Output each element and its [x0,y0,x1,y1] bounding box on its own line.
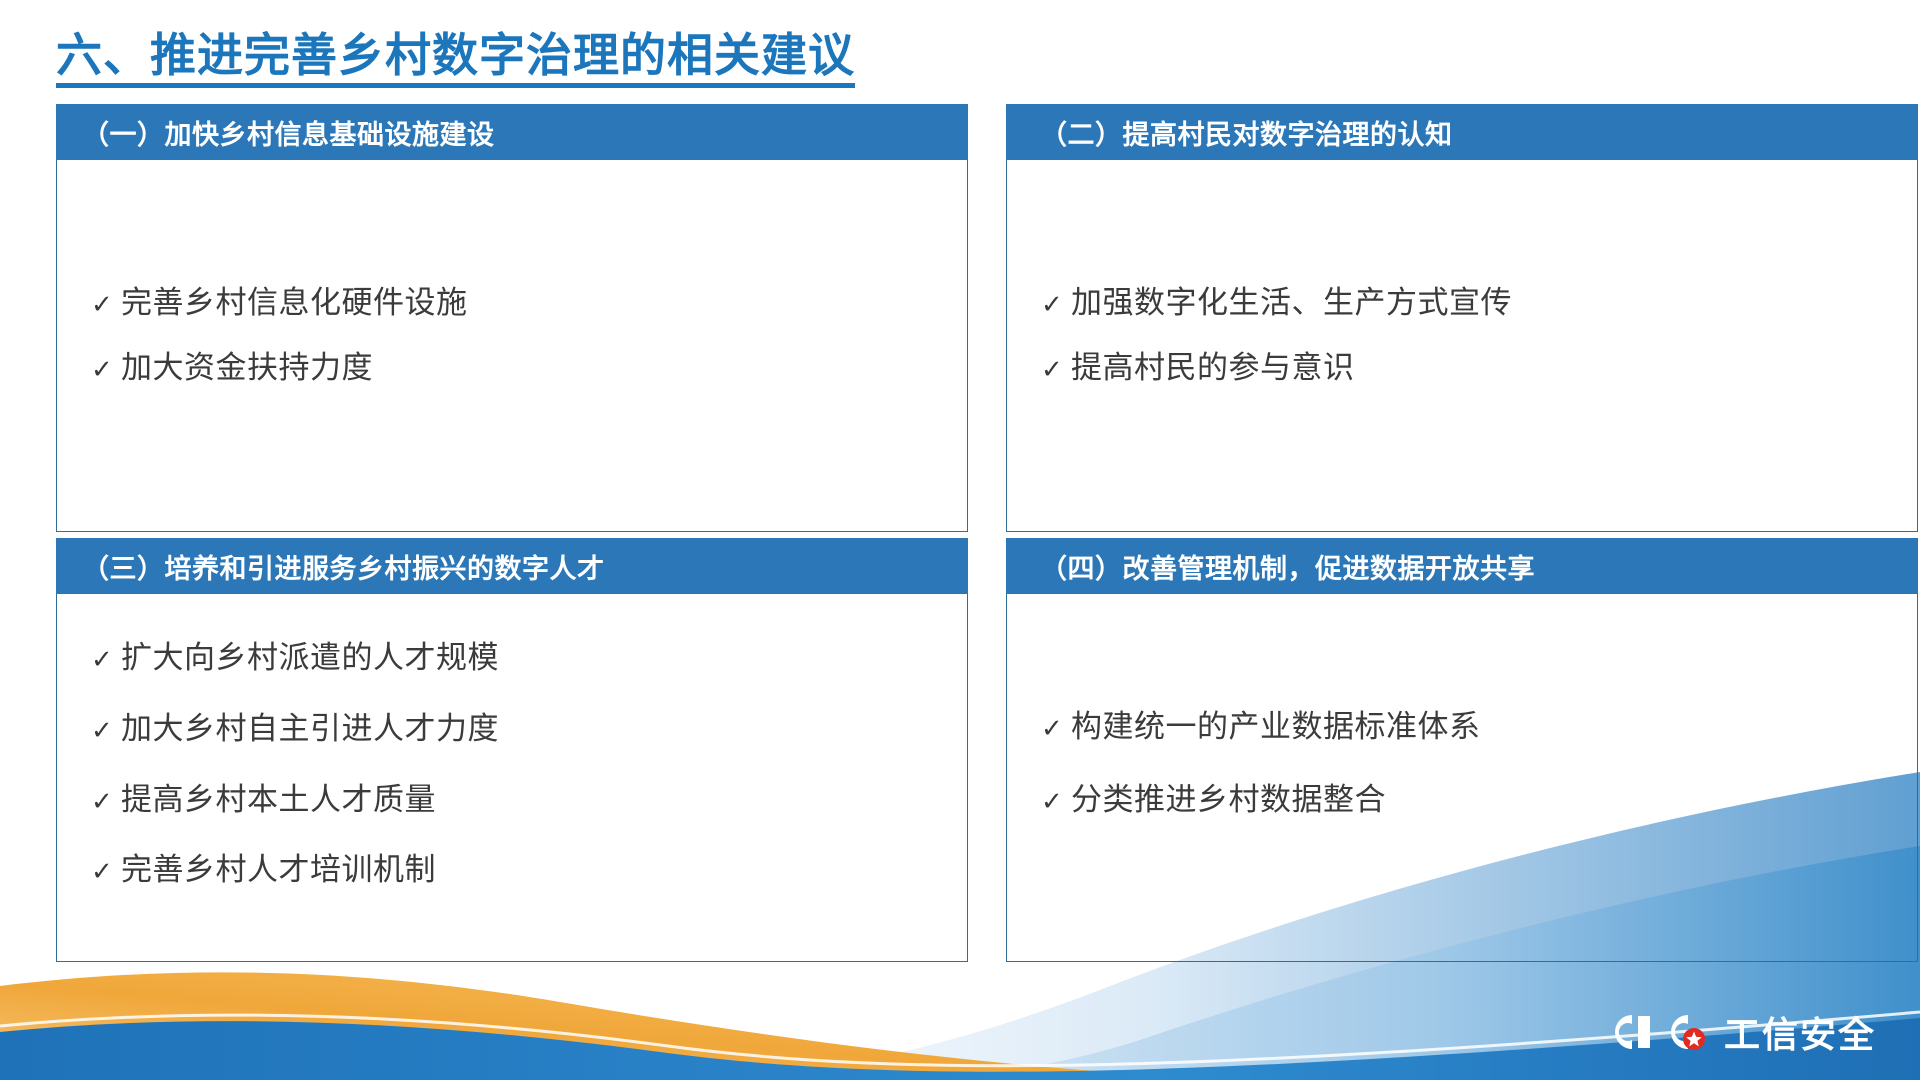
panel-two-bullet-list: ✓ 加强数字化生活、生产方式宣传 ✓ 提高村民的参与意识 [1025,284,1899,414]
panel-four-body: ✓ 构建统一的产业数据标准体系 ✓ 分类推进乡村数据整合 [1006,594,1918,962]
list-item-label: 提高村民的参与意识 [1071,349,1355,388]
panel-one-header-text: （一）加快乡村信息基础设施建设 [82,113,495,152]
list-item: ✓ 完善乡村人才培训机制 [75,851,949,890]
panel-four-header: （四）改善管理机制，促进数据开放共享 [1006,538,1918,594]
check-icon: ✓ [75,643,121,676]
check-icon: ✓ [1025,353,1071,386]
panel-three-body: ✓ 扩大向乡村派遣的人才规模 ✓ 加大乡村自主引进人才力度 ✓ 提高乡村本土人才… [56,594,968,962]
panel-three-bullet-list: ✓ 扩大向乡村派遣的人才规模 ✓ 加大乡村自主引进人才力度 ✓ 提高乡村本土人才… [75,639,949,922]
recommendations-grid: （一）加快乡村信息基础设施建设 ✓ 完善乡村信息化硬件设施 ✓ 加大资金扶持力度 [56,104,1918,994]
panel-two-body: ✓ 加强数字化生活、生产方式宣传 ✓ 提高村民的参与意识 [1006,160,1918,532]
cic-mark-icon [1598,1009,1714,1055]
list-item: ✓ 加大资金扶持力度 [75,349,949,388]
check-icon: ✓ [75,785,121,818]
panel-three-header: （三）培养和引进服务乡村振兴的数字人才 [56,538,968,594]
list-item-label: 扩大向乡村派遣的人才规模 [121,639,499,678]
list-item-label: 加强数字化生活、生产方式宣传 [1071,284,1512,323]
list-item-label: 加大乡村自主引进人才力度 [121,710,499,749]
page-title: 六、推进完善乡村数字治理的相关建议 [56,28,1256,90]
panel-one-body: ✓ 完善乡村信息化硬件设施 ✓ 加大资金扶持力度 [56,160,968,532]
list-item: ✓ 加强数字化生活、生产方式宣传 [1025,284,1899,323]
list-item-label: 提高乡村本土人才质量 [121,781,436,820]
panel-three-header-text: （三）培养和引进服务乡村振兴的数字人才 [82,547,605,586]
panel-two-header: （二）提高村民对数字治理的认知 [1006,104,1918,160]
check-icon: ✓ [75,714,121,747]
page-title-text: 六、推进完善乡村数字治理的相关建议 [56,28,855,88]
list-item: ✓ 加大乡村自主引进人才力度 [75,710,949,749]
list-item: ✓ 提高乡村本土人才质量 [75,781,949,820]
panel-two-header-text: （二）提高村民对数字治理的认知 [1040,113,1453,152]
list-item-label: 构建统一的产业数据标准体系 [1071,708,1481,747]
panel-one-bullet-list: ✓ 完善乡村信息化硬件设施 ✓ 加大资金扶持力度 [75,284,949,414]
panel-one-header: （一）加快乡村信息基础设施建设 [56,104,968,160]
check-icon: ✓ [75,855,121,888]
list-item: ✓ 完善乡村信息化硬件设施 [75,284,949,323]
list-item-label: 完善乡村信息化硬件设施 [121,284,468,323]
list-item-label: 完善乡村人才培训机制 [121,851,436,890]
panel-one: （一）加快乡村信息基础设施建设 ✓ 完善乡村信息化硬件设施 ✓ 加大资金扶持力度 [56,104,968,532]
logo-wordmark: 工信安全 [1724,1006,1876,1058]
check-icon: ✓ [1025,785,1071,818]
list-item-label: 分类推进乡村数据整合 [1071,781,1386,820]
panel-four: （四）改善管理机制，促进数据开放共享 ✓ 构建统一的产业数据标准体系 ✓ 分类推… [1006,538,1918,962]
corporate-logo: 工信安全 [1598,1006,1876,1058]
list-item: ✓ 构建统一的产业数据标准体系 [1025,708,1899,747]
check-icon: ✓ [75,353,121,386]
panel-two: （二）提高村民对数字治理的认知 ✓ 加强数字化生活、生产方式宣传 ✓ 提高村民的… [1006,104,1918,532]
check-icon: ✓ [1025,712,1071,745]
list-item: ✓ 扩大向乡村派遣的人才规模 [75,639,949,678]
check-icon: ✓ [75,288,121,321]
list-item-label: 加大资金扶持力度 [121,349,373,388]
panel-three: （三）培养和引进服务乡村振兴的数字人才 ✓ 扩大向乡村派遣的人才规模 ✓ 加大乡… [56,538,968,962]
panel-four-bullet-list: ✓ 构建统一的产业数据标准体系 ✓ 分类推进乡村数据整合 [1025,708,1899,854]
list-item: ✓ 提高村民的参与意识 [1025,349,1899,388]
panel-four-header-text: （四）改善管理机制，促进数据开放共享 [1040,547,1535,586]
check-icon: ✓ [1025,288,1071,321]
list-item: ✓ 分类推进乡村数据整合 [1025,781,1899,820]
slide-root: 六、推进完善乡村数字治理的相关建议 （一）加快乡村信息基础设施建设 ✓ 完善乡村… [0,0,1920,1080]
